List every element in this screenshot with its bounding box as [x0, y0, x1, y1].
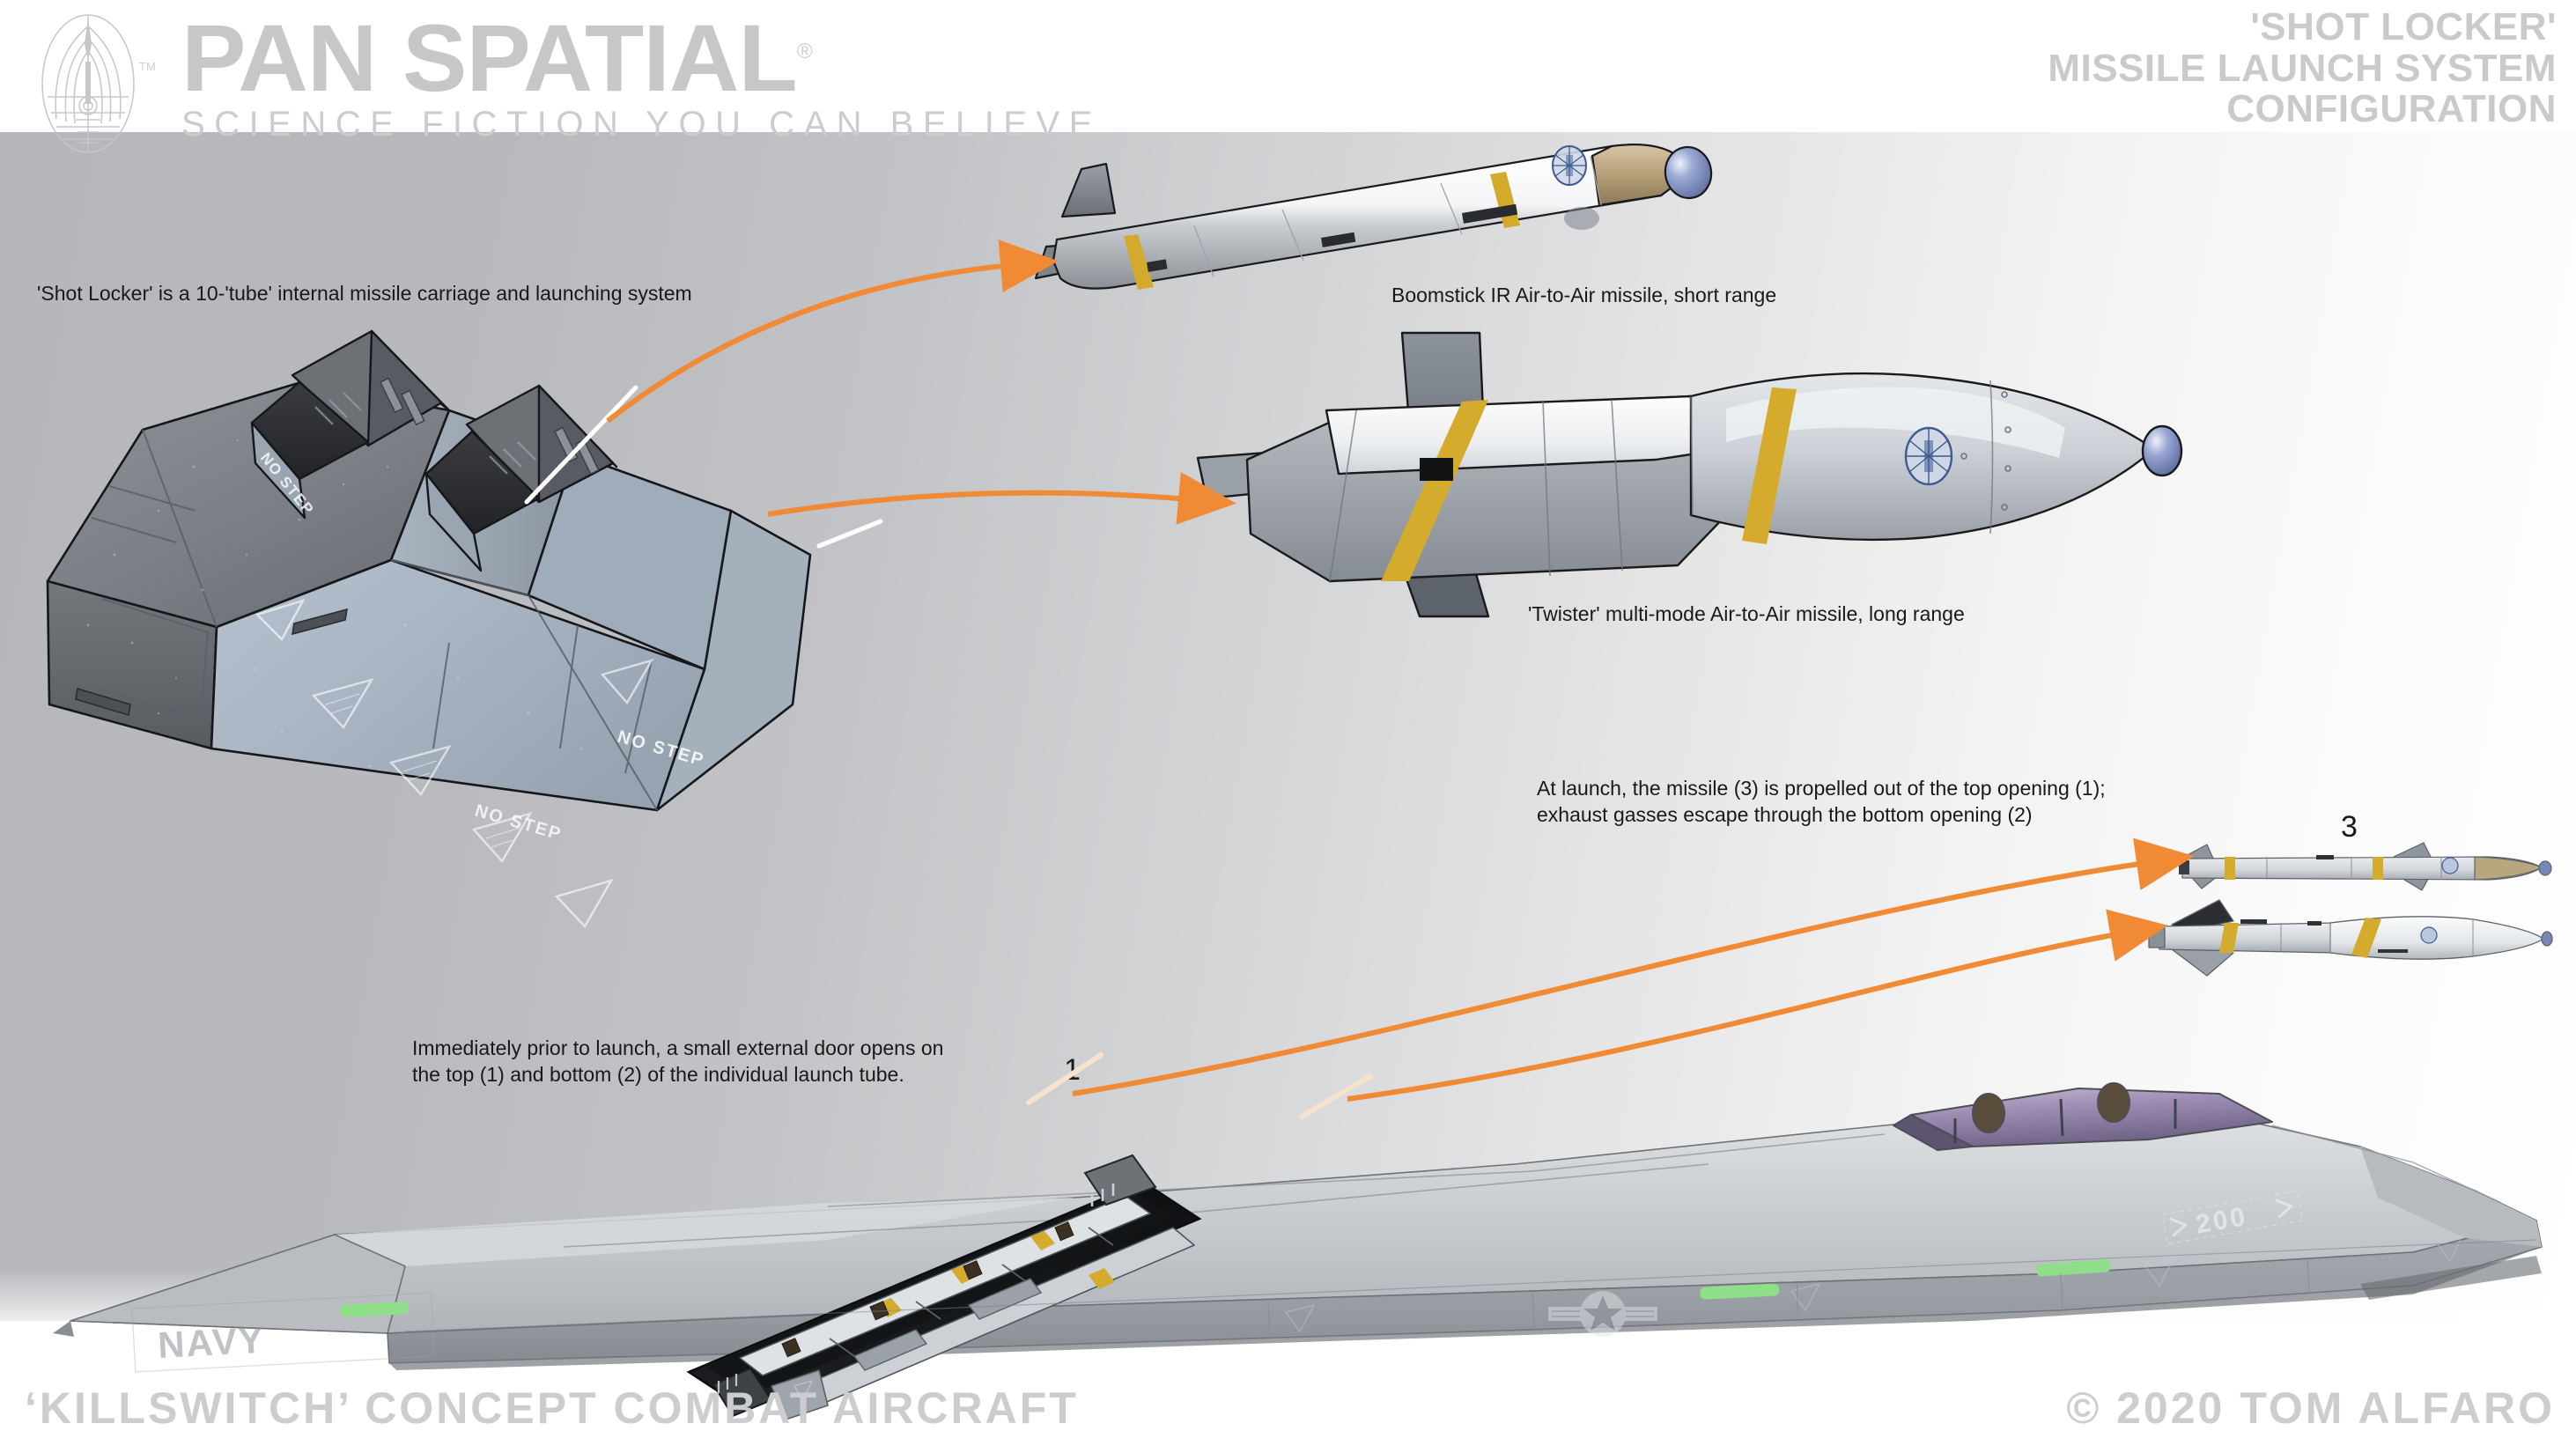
sheet-title: 'SHOT LOCKER' MISSILE LAUNCH SYSTEM CONF…: [2048, 7, 2557, 130]
profile-a-nozzle: [2179, 860, 2189, 874]
profile-a-seeker: [2475, 857, 2542, 880]
crew-silhouette-rear: [1973, 1094, 2004, 1132]
callout-missile: 3: [2341, 810, 2358, 845]
twister-manufacturer-roundel: [1906, 428, 1952, 484]
profile-b-dome: [2542, 932, 2552, 946]
brand-name: PAN SPATIAL®: [181, 14, 1120, 101]
registered-mark-icon: ®: [797, 40, 812, 63]
twister-missile-illustration: [1198, 326, 2228, 616]
boomstick-profile-small: [2175, 841, 2563, 894]
pan-spatial-wing-emblem-icon: TM: [26, 9, 176, 159]
title-line-2: MISSILE LAUNCH SYSTEM: [2048, 48, 2557, 90]
boomstick-missile-illustration: [1030, 114, 1797, 304]
boomstick-belly-marking: [1564, 207, 1599, 230]
illustration-canvas: TM PAN SPATIAL® SCIENCE FICTION YOU CAN …: [0, 0, 2576, 1453]
navy-stencil: NAVY: [157, 1319, 266, 1366]
profile-a-band-1: [2225, 857, 2235, 880]
profile-a-band-2: [2373, 857, 2383, 880]
footer-project-name: ‘KILLSWITCH’ CONCEPT COMBAT AIRCRAFT: [25, 1383, 1079, 1434]
profile-b-nozzle: [2149, 928, 2165, 948]
brand-header: TM PAN SPATIAL® SCIENCE FICTION YOU CAN …: [26, 9, 1102, 159]
title-line-3: CONFIGURATION: [2048, 89, 2557, 130]
twister-seeker-dome: [2143, 426, 2181, 476]
aircraft-left-wingtip: [70, 1235, 405, 1333]
title-line-1: 'SHOT LOCKER': [2048, 7, 2557, 48]
note-launch-sequence: At launch, the missile (3) is propelled …: [1537, 775, 2106, 829]
trademark-label: TM: [139, 60, 156, 73]
footer-copyright: © 2020 TOM ALFARO: [2066, 1383, 2555, 1434]
shot-locker-launcher-assembly: NO STEP NO STEP NO STEP: [35, 291, 1136, 1030]
profile-a-dome: [2539, 861, 2551, 875]
brand-tagline: SCIENCE FICTION YOU CAN BELIEVE: [181, 105, 1102, 144]
crew-silhouette-front: [2098, 1083, 2129, 1122]
boomstick-tail-fin-upper: [1062, 164, 1115, 217]
profile-b-aftbody: [2159, 923, 2351, 953]
killswitch-aircraft-illustration: NAVY 200: [35, 1030, 2576, 1409]
boomstick-manufacturer-roundel: [1553, 146, 1586, 185]
twister-profile-small: [2149, 898, 2563, 977]
twister-intake-opening: [1420, 458, 1453, 481]
